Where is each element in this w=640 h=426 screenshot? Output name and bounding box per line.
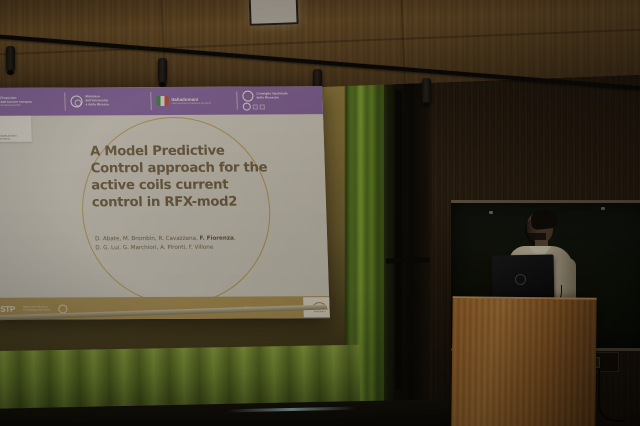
authors-comma: , [234, 236, 236, 242]
ministry-seal-icon [70, 95, 82, 107]
banner-cell-italiadomani: Italiadomani PIANO NAZIONALE DI RIPRESA … [150, 87, 237, 115]
track-spotlight [158, 58, 167, 84]
partner-chip [253, 104, 258, 109]
istp-note: Istituto per la Scienza e Tecnologia dei… [23, 305, 50, 311]
eu-note: NextGenerationEU [1, 104, 32, 107]
partner-seal-icon [243, 103, 251, 111]
banner-cell-ministry: Ministero dell'Università e della Ricerc… [64, 87, 151, 115]
cnr-partner-row [243, 102, 289, 110]
chalk-mark [601, 207, 605, 210]
presentation-photo-scene: Finanziato dall'Unione europea NextGener… [0, 0, 640, 426]
ifac-subtitle: INTERNATIONAL FEDERATION OF AUTOMATIC CO… [0, 135, 17, 141]
author-highlight: F. Fiorenza [200, 236, 234, 242]
power-cable [598, 368, 626, 422]
partner-chip [259, 104, 264, 109]
ifac-logo: I IFAC INTERNATIONAL FEDERATION OF AUTOM… [0, 116, 32, 142]
chalk-mark [489, 211, 493, 214]
ministry-note: e della Ricerca [86, 103, 109, 107]
track-spotlight [422, 78, 431, 104]
istp-wordmark: ISTP [0, 304, 15, 313]
italiadomani-subtitle: PIANO NAZIONALE DI RIPRESA E RESILIENZA [172, 103, 212, 105]
italy-flag-icon [156, 96, 168, 106]
ceiling-light-panel [248, 0, 298, 26]
istp-note-line2: e Tecnologia dei Plasmi [23, 309, 50, 312]
track-spotlight [6, 46, 15, 72]
ifac-subtitle-line2: OF AUTOMATIC CONTROL [0, 138, 17, 141]
banner-cell-cnr: Consiglio Nazionale delle Ricerche [236, 86, 323, 114]
footer-partner-logo [58, 304, 67, 313]
projection-screen: Finanziato dall'Unione europea NextGener… [0, 86, 330, 320]
cnr-seal-icon [242, 91, 253, 102]
funding-banner: Finanziato dall'Unione europea NextGener… [0, 86, 323, 116]
authors-names-a: D. Abate, M. Brombin, R. Cavazzana, [95, 236, 200, 243]
slide-title: A Model Predictive Control approach for … [90, 143, 278, 211]
footer-badge-label: NextGenEU [314, 311, 326, 313]
authors-line-2: D. G. Lui, G. Marchiori, A. Pironti, F. … [95, 243, 285, 253]
dark-wall-column [384, 60, 430, 426]
wooden-lectern [451, 296, 596, 426]
door-frame-edge [395, 90, 402, 390]
cnr-subtitle: delle Ricerche [256, 96, 287, 100]
istp-logo: ISTP [0, 304, 15, 313]
banner-cell-eu: Finanziato dall'Unione europea NextGener… [0, 88, 65, 116]
slide-authors: D. Abate, M. Brombin, R. Cavazzana, F. F… [95, 234, 286, 252]
presentation-slide: Finanziato dall'Unione europea NextGener… [0, 86, 330, 320]
